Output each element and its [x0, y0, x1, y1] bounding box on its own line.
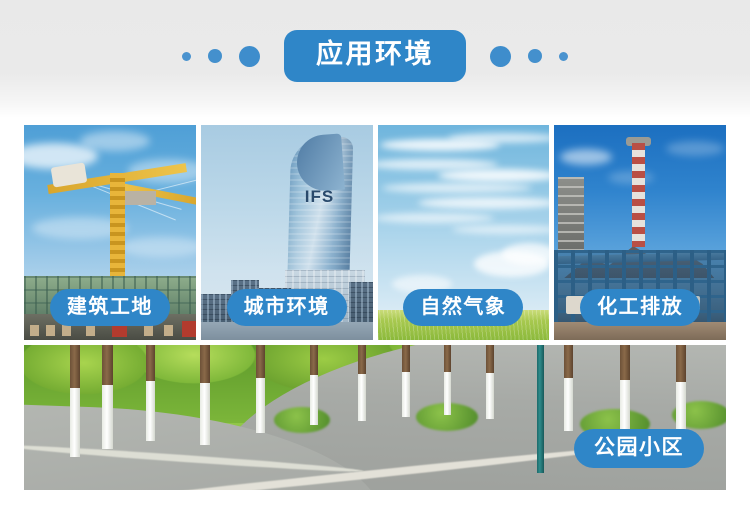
page-title: 应用环境 — [316, 41, 434, 68]
scene-card-label-pill: 城市环境 — [227, 289, 347, 326]
park-road-photo — [24, 345, 726, 490]
decorative-dots-right — [490, 46, 568, 67]
scene-card-weather[interactable]: 自然气象 — [378, 125, 550, 340]
dot-large-icon — [490, 46, 511, 67]
dot-medium-icon — [528, 49, 542, 63]
scene-card-label-pill: 建筑工地 — [50, 289, 170, 326]
scene-card-construction[interactable]: 建筑工地 — [24, 125, 196, 340]
scene-card-label-text: 化工排放 — [597, 294, 683, 318]
application-scene-card-grid: 建筑工地 IFS 城市环境 — [24, 125, 726, 340]
banner-label-text: 公园小区 — [594, 435, 684, 459]
dot-small-icon — [559, 52, 568, 61]
dot-large-icon — [239, 46, 260, 67]
decorative-dots-left — [182, 46, 260, 67]
scene-card-label-text: 建筑工地 — [67, 294, 153, 318]
scene-card-city[interactable]: IFS 城市环境 — [201, 125, 373, 340]
scene-card-label-pill: 化工排放 — [580, 289, 700, 326]
page-title-pill: 应用环境 — [284, 30, 466, 82]
park-banner[interactable]: 公园小区 — [24, 345, 726, 490]
banner-label-pill: 公园小区 — [574, 429, 704, 468]
dot-small-icon — [182, 52, 191, 61]
scene-card-chemical[interactable]: 化工排放 — [554, 125, 726, 340]
scene-card-label-text: 城市环境 — [244, 294, 330, 318]
page-header: 应用环境 — [0, 0, 750, 112]
ifs-building-sign: IFS — [305, 187, 334, 207]
dot-medium-icon — [208, 49, 222, 63]
scene-card-label-text: 自然气象 — [420, 294, 506, 318]
scene-card-label-pill: 自然气象 — [403, 289, 523, 326]
